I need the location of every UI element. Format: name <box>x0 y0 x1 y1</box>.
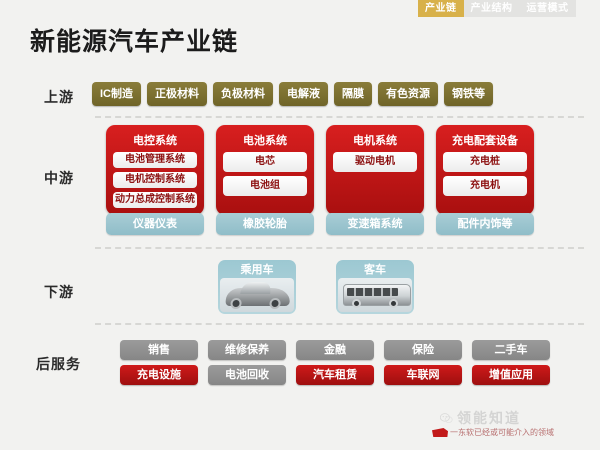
afterservice-item-connected-car[interactable]: 车联网 <box>384 365 462 385</box>
afterservice-item-charging-facility[interactable]: 充电设施 <box>120 365 198 385</box>
afterservice-item-used-car[interactable]: 二手车 <box>472 340 550 360</box>
chip-charging-pile[interactable]: 充电桩 <box>443 152 527 172</box>
support-item-parts-interior[interactable]: 配件内饰等 <box>436 213 534 235</box>
legend-swatch-icon <box>432 428 448 437</box>
card-title-motor-system: 电机系统 <box>333 130 417 152</box>
divider-upstream-midstream <box>95 116 584 118</box>
midstream-support-items: 仪器仪表 橡胶轮胎 变速箱系统 配件内饰等 <box>106 213 534 235</box>
upstream-item-electrolyte[interactable]: 电解液 <box>279 82 328 106</box>
watermark: 领能知道 <box>440 408 521 428</box>
upstream-item-anode-material[interactable]: 负极材料 <box>213 82 273 106</box>
wechat-icon <box>440 413 453 424</box>
upstream-item-nonferrous-resources[interactable]: 有色资源 <box>378 82 438 106</box>
downstream-item-passenger-car[interactable]: 乘用车 <box>218 260 296 314</box>
card-title-battery-system: 电池系统 <box>223 130 307 152</box>
midstream-card-charging-equipment[interactable]: 充电配套设备 充电桩 充电机 <box>436 125 534 215</box>
tab-industry-structure[interactable]: 产业结构 <box>464 0 520 17</box>
afterservice-row-1: 销售 维修保养 金融 保险 二手车 <box>120 340 550 360</box>
midstream-cards: 电控系统 电池管理系统 电机控制系统 动力总成控制系统 电池系统 电芯 电池组 … <box>106 125 534 215</box>
upstream-item-cathode-material[interactable]: 正极材料 <box>147 82 207 106</box>
afterservice-item-insurance[interactable]: 保险 <box>384 340 462 360</box>
upstream-items: IC制造 正极材料 负极材料 电解液 隔膜 有色资源 钢铁等 <box>92 82 493 106</box>
legend: 一东软已经或可能介入的领域 <box>432 427 554 438</box>
chip-drive-motor[interactable]: 驱动电机 <box>333 152 417 172</box>
upstream-item-ic-manufacturing[interactable]: IC制造 <box>92 82 141 106</box>
bus-icon <box>338 278 412 312</box>
passenger-car-label: 乘用车 <box>220 262 294 278</box>
afterservice-item-maintenance[interactable]: 维修保养 <box>208 340 286 360</box>
passenger-car-icon <box>220 278 294 312</box>
midstream-card-battery-system[interactable]: 电池系统 电芯 电池组 <box>216 125 314 215</box>
chip-battery-cell[interactable]: 电芯 <box>223 152 307 172</box>
card-title-charging-equipment: 充电配套设备 <box>443 130 527 152</box>
legend-text: 一东软已经或可能介入的领域 <box>450 427 554 438</box>
chip-powertrain-control-system[interactable]: 动力总成控制系统 <box>113 192 197 208</box>
row-label-downstream: 下游 <box>44 282 74 302</box>
afterservice-row-2: 充电设施 电池回收 汽车租赁 车联网 增值应用 <box>120 365 550 385</box>
support-item-instruments[interactable]: 仪器仪表 <box>106 213 204 235</box>
afterservice-item-finance[interactable]: 金融 <box>296 340 374 360</box>
page-title: 新能源汽车产业链 <box>30 22 238 58</box>
chip-battery-pack[interactable]: 电池组 <box>223 176 307 196</box>
downstream-item-bus[interactable]: 客车 <box>336 260 414 314</box>
bus-label: 客车 <box>338 262 412 278</box>
tab-industry-chain[interactable]: 产业链 <box>418 0 464 17</box>
chip-motor-control-system[interactable]: 电机控制系统 <box>113 172 197 188</box>
afterservice-item-sales[interactable]: 销售 <box>120 340 198 360</box>
midstream-card-ecu-system[interactable]: 电控系统 电池管理系统 电机控制系统 动力总成控制系统 <box>106 125 204 215</box>
row-label-upstream: 上游 <box>44 87 74 107</box>
watermark-text: 领能知道 <box>457 408 521 428</box>
support-item-rubber-tires[interactable]: 橡胶轮胎 <box>216 213 314 235</box>
card-title-ecu-system: 电控系统 <box>113 130 197 152</box>
afterservice-items: 销售 维修保养 金融 保险 二手车 充电设施 电池回收 汽车租赁 车联网 增值应… <box>120 340 550 390</box>
infographic-root: 产业链 产业结构 运营模式 新能源汽车产业链 上游 IC制造 正极材料 负极材料… <box>0 0 600 450</box>
support-item-transmission-system[interactable]: 变速箱系统 <box>326 213 424 235</box>
row-label-midstream: 中游 <box>44 168 74 188</box>
divider-downstream-afterservice <box>95 323 584 325</box>
divider-midstream-downstream <box>95 247 584 249</box>
tab-operation-model[interactable]: 运营模式 <box>520 0 576 17</box>
chip-charger[interactable]: 充电机 <box>443 176 527 196</box>
upstream-item-separator[interactable]: 隔膜 <box>334 82 372 106</box>
chip-battery-management-system[interactable]: 电池管理系统 <box>113 152 197 168</box>
afterservice-item-car-rental[interactable]: 汽车租赁 <box>296 365 374 385</box>
downstream-items: 乘用车 客车 <box>218 260 414 314</box>
upstream-item-steel[interactable]: 钢铁等 <box>444 82 493 106</box>
afterservice-item-value-added-apps[interactable]: 增值应用 <box>472 365 550 385</box>
top-tab-bar: 产业链 产业结构 运营模式 <box>418 0 576 17</box>
midstream-card-motor-system[interactable]: 电机系统 驱动电机 <box>326 125 424 215</box>
afterservice-item-battery-recycling[interactable]: 电池回收 <box>208 365 286 385</box>
row-label-afterservice: 后服务 <box>36 354 81 374</box>
